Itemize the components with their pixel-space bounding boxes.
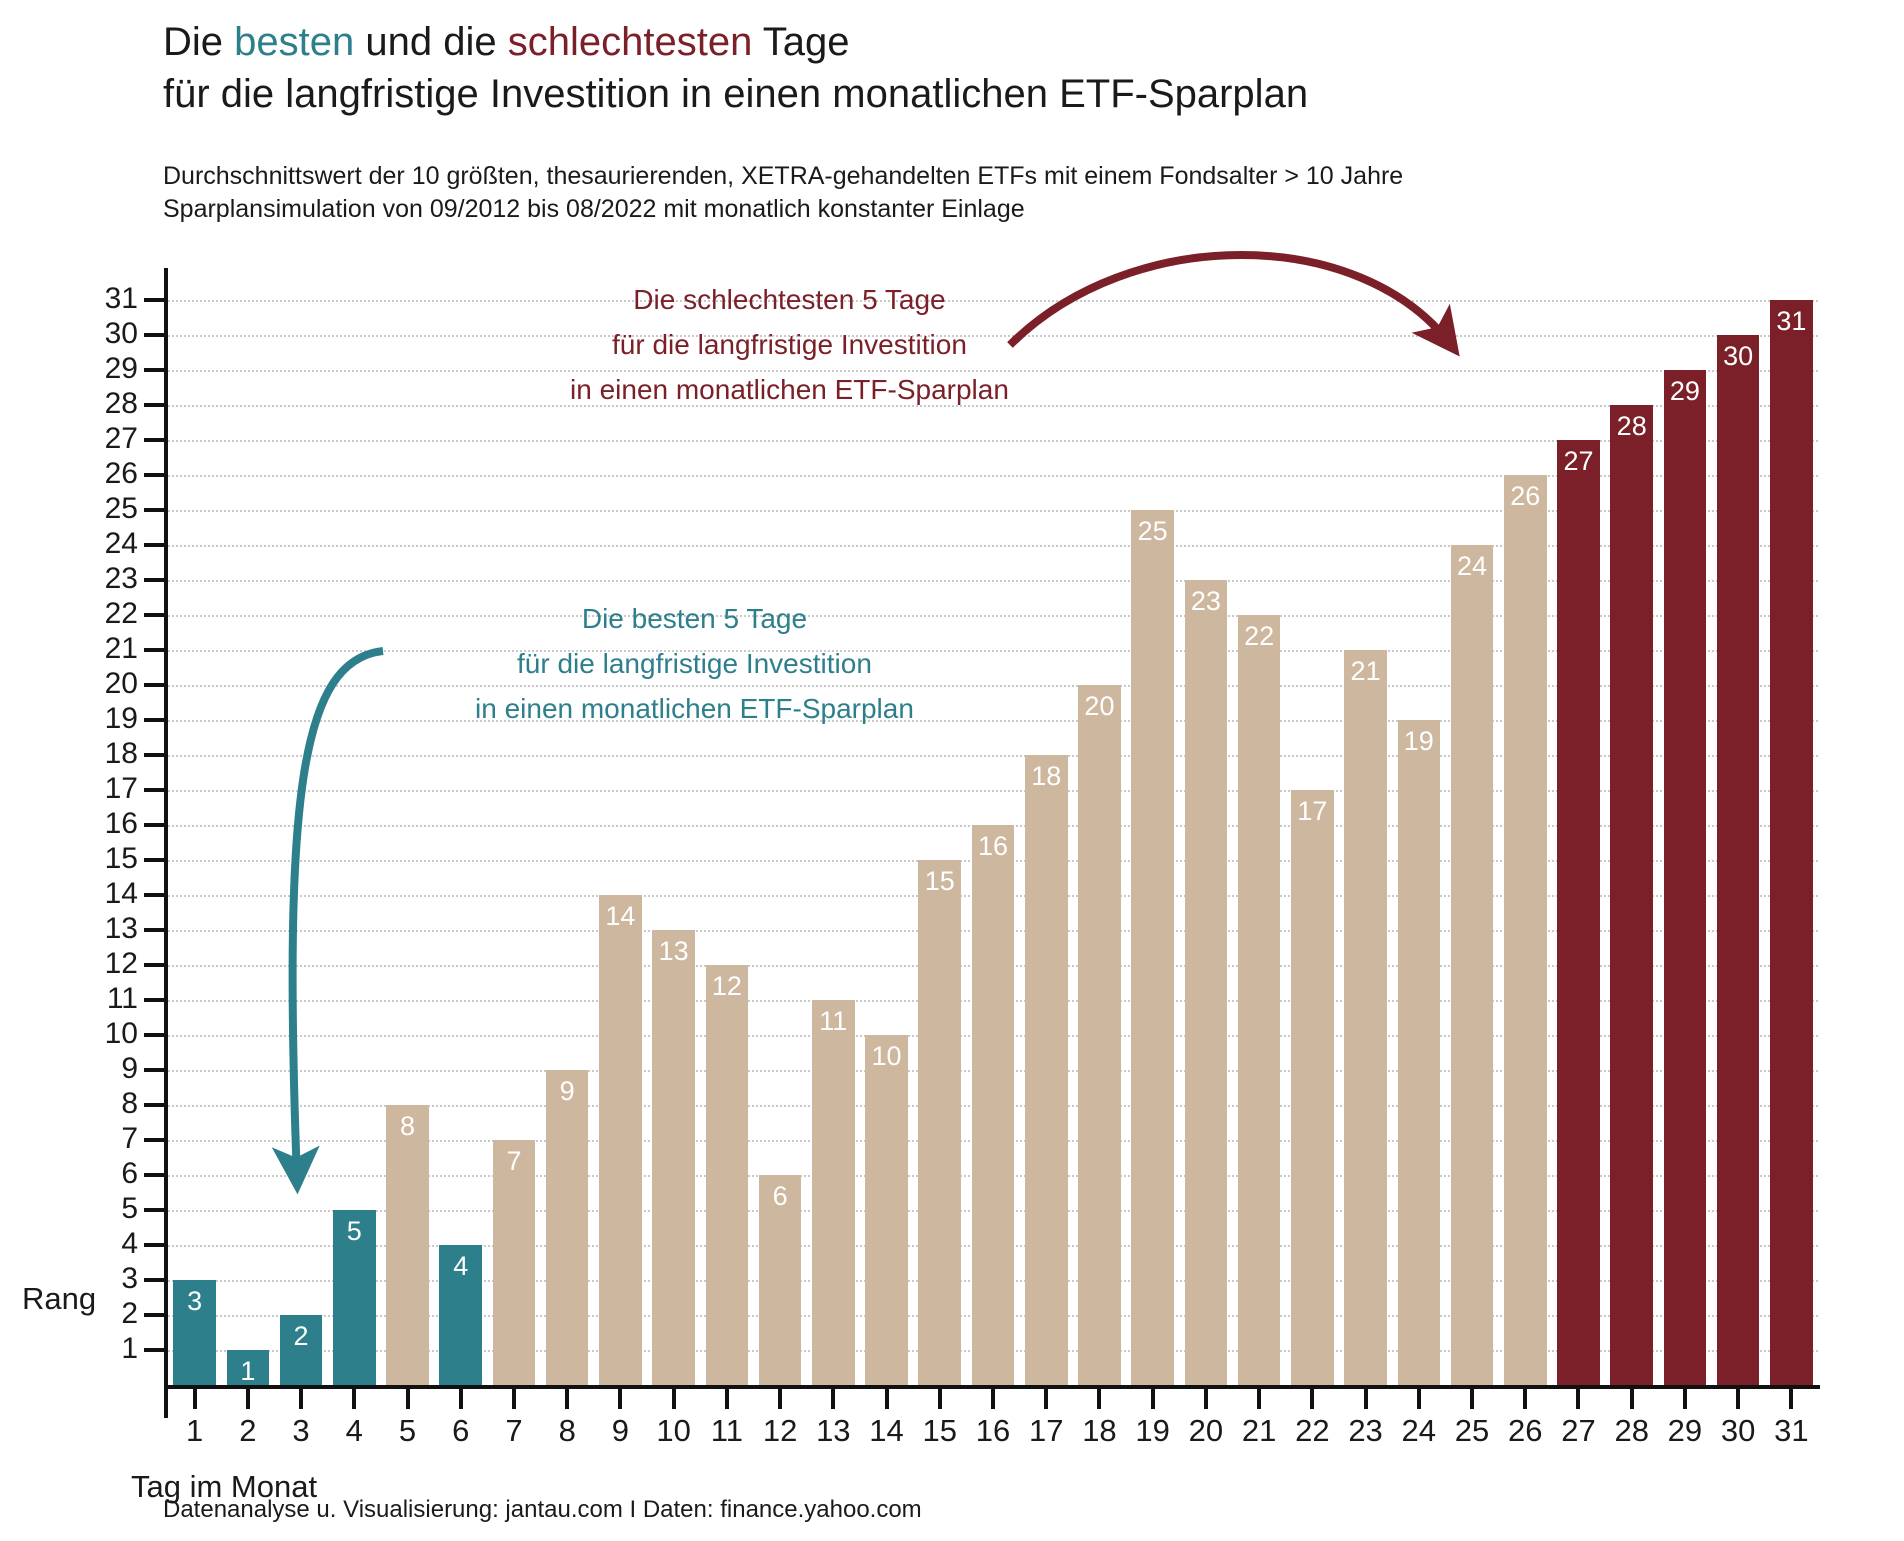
y-axis-tick-label: 29 xyxy=(60,354,138,384)
y-axis-tick-label: 17 xyxy=(60,774,138,804)
x-axis-tick-label: 6 xyxy=(434,1414,487,1448)
x-axis-tick xyxy=(672,1389,676,1409)
x-axis-tick-label: 15 xyxy=(913,1414,966,1448)
bar-value-label: 6 xyxy=(759,1181,802,1211)
annotation-worst-line-2: für die langfristige Investition xyxy=(570,322,1009,367)
y-axis-tick-label: 16 xyxy=(60,809,138,839)
bar-value-label: 4 xyxy=(439,1251,482,1281)
bar-day-4[interactable]: 5 xyxy=(333,1210,376,1385)
bar-day-3[interactable]: 2 xyxy=(280,1315,323,1385)
bar-day-30[interactable]: 30 xyxy=(1717,335,1760,1385)
x-axis-tick xyxy=(1523,1389,1527,1409)
bar-value-label: 31 xyxy=(1770,306,1813,336)
bar-day-23[interactable]: 21 xyxy=(1344,650,1387,1385)
y-axis-tick-label: 4 xyxy=(60,1229,138,1259)
page-title: Die besten und die schlechtesten Tage fü… xyxy=(163,16,1308,120)
bar-value-label: 22 xyxy=(1238,621,1281,651)
bar-day-17[interactable]: 18 xyxy=(1025,755,1068,1385)
y-axis-tick-label: 9 xyxy=(60,1054,138,1084)
annotation-best-line-3: in einen monatlichen ETF-Sparplan xyxy=(475,686,914,731)
x-axis-tick xyxy=(565,1389,569,1409)
title-part-c: Tage xyxy=(752,20,849,64)
subtitle-line-1: Durchschnittswert der 10 größten, thesau… xyxy=(163,160,1403,193)
y-axis-tick-label: 25 xyxy=(60,494,138,524)
x-axis-tick xyxy=(1044,1389,1048,1409)
bar-value-label: 25 xyxy=(1131,516,1174,546)
x-axis-tick xyxy=(1736,1389,1740,1409)
title-worst-word: schlechtesten xyxy=(508,20,753,64)
x-axis-tick-label: 24 xyxy=(1392,1414,1445,1448)
bar-value-label: 30 xyxy=(1717,341,1760,371)
y-axis-tick xyxy=(144,998,166,1002)
x-axis-tick-label: 12 xyxy=(753,1414,806,1448)
bar-day-15[interactable]: 15 xyxy=(918,860,961,1385)
bar-day-19[interactable]: 25 xyxy=(1131,510,1174,1385)
x-axis-tick-label: 22 xyxy=(1286,1414,1339,1448)
y-axis-tick-label: 7 xyxy=(60,1124,138,1154)
bar-value-label: 5 xyxy=(333,1216,376,1246)
bar-day-6[interactable]: 4 xyxy=(439,1245,482,1385)
bar-day-16[interactable]: 16 xyxy=(972,825,1015,1385)
x-axis-tick xyxy=(246,1389,250,1409)
y-axis-tick-label: 11 xyxy=(60,984,138,1014)
bar-day-20[interactable]: 23 xyxy=(1185,580,1228,1385)
bar-day-11[interactable]: 12 xyxy=(706,965,749,1385)
annotation-best-line-1: Die besten 5 Tage xyxy=(475,596,914,641)
x-axis-tick-label: 3 xyxy=(274,1414,327,1448)
bar-value-label: 15 xyxy=(918,866,961,896)
y-axis-tick xyxy=(144,333,166,337)
x-axis-tick-label: 25 xyxy=(1445,1414,1498,1448)
x-axis-tick xyxy=(991,1389,995,1409)
x-axis-tick-label: 30 xyxy=(1712,1414,1765,1448)
y-axis-tick xyxy=(144,1278,166,1282)
x-axis-tick-label: 2 xyxy=(221,1414,274,1448)
bar-day-12[interactable]: 6 xyxy=(759,1175,802,1385)
y-axis-tick xyxy=(144,963,166,967)
y-axis-tick-label: 8 xyxy=(60,1089,138,1119)
footer-credit: Datenanalyse u. Visualisierung: jantau.c… xyxy=(163,1496,922,1524)
x-axis-tick xyxy=(618,1389,622,1409)
bar-day-1[interactable]: 3 xyxy=(173,1280,216,1385)
y-axis-tick xyxy=(144,1103,166,1107)
y-axis-tick xyxy=(144,368,166,372)
bar-value-label: 2 xyxy=(280,1321,323,1351)
y-axis-tick xyxy=(144,858,166,862)
y-axis-tick xyxy=(144,473,166,477)
plot-area: 3125847914131261110151618202523221721192… xyxy=(168,272,1818,1385)
x-axis-tick-label: 20 xyxy=(1179,1414,1232,1448)
x-axis-tick xyxy=(1576,1389,1580,1409)
bar-value-label: 7 xyxy=(493,1146,536,1176)
y-axis-tick xyxy=(144,753,166,757)
y-axis-tick xyxy=(144,578,166,582)
bar-value-label: 24 xyxy=(1451,551,1494,581)
x-axis-tick-label: 9 xyxy=(594,1414,647,1448)
x-axis-tick-label: 7 xyxy=(487,1414,540,1448)
bar-value-label: 23 xyxy=(1185,586,1228,616)
bar-day-8[interactable]: 9 xyxy=(546,1070,589,1385)
x-axis-tick-label: 5 xyxy=(381,1414,434,1448)
x-axis-tick xyxy=(778,1389,782,1409)
y-axis-tick-label: 12 xyxy=(60,949,138,979)
bar-value-label: 14 xyxy=(599,901,642,931)
x-axis-tick xyxy=(1470,1389,1474,1409)
x-axis-tick xyxy=(1417,1389,1421,1409)
y-axis-tick xyxy=(144,508,166,512)
bar-value-label: 3 xyxy=(173,1286,216,1316)
y-axis-tick-label: 31 xyxy=(60,284,138,314)
bar-value-label: 17 xyxy=(1291,796,1334,826)
y-axis-tick xyxy=(144,543,166,547)
bar-day-26[interactable]: 26 xyxy=(1504,475,1547,1385)
title-part-a: Die xyxy=(163,20,234,64)
y-axis-tick xyxy=(144,1138,166,1142)
chart-subtitle: Durchschnittswert der 10 größten, thesau… xyxy=(163,160,1403,226)
y-axis-tick-label: 6 xyxy=(60,1159,138,1189)
y-axis-tick-label: 14 xyxy=(60,879,138,909)
x-axis-tick xyxy=(1204,1389,1208,1409)
bar-value-label: 12 xyxy=(706,971,749,1001)
x-axis-tick xyxy=(1097,1389,1101,1409)
x-axis-tick-label: 23 xyxy=(1339,1414,1392,1448)
y-axis-tick-label: 18 xyxy=(60,739,138,769)
bar-value-label: 11 xyxy=(812,1006,855,1036)
y-axis-tick-label: 22 xyxy=(60,599,138,629)
x-axis-tick-label: 21 xyxy=(1233,1414,1286,1448)
y-axis-tick xyxy=(144,403,166,407)
y-axis-tick xyxy=(144,1243,166,1247)
y-axis-tick-label: 27 xyxy=(60,424,138,454)
bar-value-label: 1 xyxy=(227,1356,270,1386)
annotation-worst-line-3: in einen monatlichen ETF-Sparplan xyxy=(570,367,1009,412)
y-axis-tick xyxy=(144,1173,166,1177)
x-axis-tick xyxy=(1257,1389,1261,1409)
x-axis-tick-label: 19 xyxy=(1126,1414,1179,1448)
x-axis-tick xyxy=(1364,1389,1368,1409)
bar-value-label: 28 xyxy=(1610,411,1653,441)
x-axis-tick-label: 14 xyxy=(860,1414,913,1448)
x-axis-tick-label: 28 xyxy=(1605,1414,1658,1448)
y-axis-tick-label: 2 xyxy=(60,1299,138,1329)
x-axis-tick xyxy=(512,1389,516,1409)
x-axis-tick-label: 18 xyxy=(1073,1414,1126,1448)
x-axis-tick-label: 1 xyxy=(168,1414,221,1448)
x-axis-tick xyxy=(1151,1389,1155,1409)
x-axis-tick xyxy=(938,1389,942,1409)
y-axis-tick-label: 24 xyxy=(60,529,138,559)
x-axis-tick xyxy=(1310,1389,1314,1409)
bar-day-24[interactable]: 19 xyxy=(1398,720,1441,1385)
bar-day-14[interactable]: 10 xyxy=(865,1035,908,1385)
x-axis-tick-label: 4 xyxy=(328,1414,381,1448)
x-axis-tick xyxy=(725,1389,729,1409)
y-axis-tick xyxy=(144,1033,166,1037)
y-axis-tick xyxy=(144,613,166,617)
x-axis-tick-label: 26 xyxy=(1499,1414,1552,1448)
annotation-worst-line-1: Die schlechtesten 5 Tage xyxy=(570,277,1009,322)
bar-day-21[interactable]: 22 xyxy=(1238,615,1281,1385)
x-axis-tick xyxy=(299,1389,303,1409)
x-axis-tick xyxy=(1683,1389,1687,1409)
bar-value-label: 26 xyxy=(1504,481,1547,511)
y-axis-tick xyxy=(144,648,166,652)
y-axis-tick xyxy=(144,1068,166,1072)
subtitle-line-2: Sparplansimulation von 09/2012 bis 08/20… xyxy=(163,193,1403,226)
bar-value-label: 18 xyxy=(1025,761,1068,791)
bar-value-label: 20 xyxy=(1078,691,1121,721)
bar-value-label: 9 xyxy=(546,1076,589,1106)
y-axis-tick xyxy=(144,438,166,442)
y-axis-tick-label: 1 xyxy=(60,1334,138,1364)
bar-day-7[interactable]: 7 xyxy=(493,1140,536,1385)
y-axis-tick-label: 13 xyxy=(60,914,138,944)
y-axis-tick xyxy=(144,298,166,302)
chart-page: Die besten und die schlechtesten Tage fü… xyxy=(0,0,1904,1541)
x-axis-tick-label: 27 xyxy=(1552,1414,1605,1448)
bar-value-label: 27 xyxy=(1557,446,1600,476)
y-axis-tick-label: 20 xyxy=(60,669,138,699)
title-line-1: Die besten und die schlechtesten Tage xyxy=(163,16,1308,68)
bar-day-28[interactable]: 28 xyxy=(1610,405,1653,1385)
y-axis-tick-label: 3 xyxy=(60,1264,138,1294)
bar-value-label: 16 xyxy=(972,831,1015,861)
y-axis-tick xyxy=(144,683,166,687)
x-axis-tick xyxy=(352,1389,356,1409)
y-axis-tick xyxy=(144,718,166,722)
x-axis-tick-label: 11 xyxy=(700,1414,753,1448)
y-axis-tick-label: 10 xyxy=(60,1019,138,1049)
y-axis-tick-label: 5 xyxy=(60,1194,138,1224)
y-axis-tick xyxy=(144,928,166,932)
x-axis-tick-label: 10 xyxy=(647,1414,700,1448)
x-axis-tick xyxy=(193,1389,197,1409)
x-axis-tick xyxy=(831,1389,835,1409)
bar-day-22[interactable]: 17 xyxy=(1291,790,1334,1385)
x-axis-tick xyxy=(885,1389,889,1409)
x-axis-tick xyxy=(1789,1389,1793,1409)
y-axis-tick xyxy=(144,1313,166,1317)
bar-day-2[interactable]: 1 xyxy=(227,1350,270,1385)
y-axis-tick xyxy=(144,1208,166,1212)
bar-day-18[interactable]: 20 xyxy=(1078,685,1121,1385)
bar-day-25[interactable]: 24 xyxy=(1451,545,1494,1385)
annotation-best-line-2: für die langfristige Investition xyxy=(475,641,914,686)
y-axis-tick-label: 21 xyxy=(60,634,138,664)
bar-day-27[interactable]: 27 xyxy=(1557,440,1600,1385)
bar-value-label: 10 xyxy=(865,1041,908,1071)
y-axis-tick-label: 26 xyxy=(60,459,138,489)
bar-day-13[interactable]: 11 xyxy=(812,1000,855,1385)
y-axis-tick-label: 19 xyxy=(60,704,138,734)
y-axis-tick xyxy=(144,893,166,897)
y-axis-tick xyxy=(144,823,166,827)
x-axis-tick-label: 31 xyxy=(1765,1414,1818,1448)
bar-day-10[interactable]: 13 xyxy=(652,930,695,1385)
x-axis-tick-label: 13 xyxy=(807,1414,860,1448)
x-axis-tick-label: 29 xyxy=(1658,1414,1711,1448)
bar-value-label: 13 xyxy=(652,936,695,966)
x-axis-tick xyxy=(459,1389,463,1409)
bar-day-5[interactable]: 8 xyxy=(386,1105,429,1385)
x-axis-tick-label: 8 xyxy=(541,1414,594,1448)
bar-value-label: 21 xyxy=(1344,656,1387,686)
x-axis-tick xyxy=(1630,1389,1634,1409)
y-axis-tick-label: 28 xyxy=(60,389,138,419)
x-axis-tick-label: 17 xyxy=(1020,1414,1073,1448)
bar-value-label: 8 xyxy=(386,1111,429,1141)
y-axis-tick-label: 23 xyxy=(60,564,138,594)
title-best-word: besten xyxy=(234,20,354,64)
y-axis-tick xyxy=(144,1348,166,1352)
y-axis-tick-label: 30 xyxy=(60,319,138,349)
annotation-worst-days: Die schlechtesten 5 Tagefür die langfris… xyxy=(570,277,1009,412)
bar-day-29[interactable]: 29 xyxy=(1664,370,1707,1385)
bar-day-31[interactable]: 31 xyxy=(1770,300,1813,1385)
y-axis-tick-label: 15 xyxy=(60,844,138,874)
title-line-2: für die langfristige Investition in eine… xyxy=(163,68,1308,120)
annotation-best-days: Die besten 5 Tagefür die langfristige In… xyxy=(475,596,914,731)
x-axis-tick xyxy=(406,1389,410,1409)
bar-value-label: 29 xyxy=(1664,376,1707,406)
x-axis-tick-label: 16 xyxy=(966,1414,1019,1448)
title-part-b: und die xyxy=(354,20,507,64)
bar-day-9[interactable]: 14 xyxy=(599,895,642,1385)
y-axis-tick xyxy=(144,788,166,792)
bar-value-label: 19 xyxy=(1398,726,1441,756)
